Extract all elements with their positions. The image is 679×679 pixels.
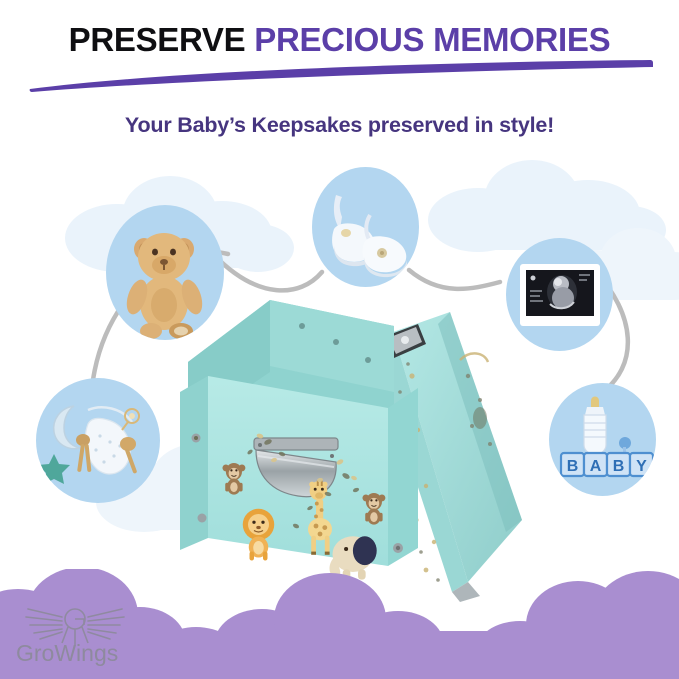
page-subtitle: Your Baby’s Keepsakes preserved in style… [0,113,679,138]
page-title-part1: PRESERVE [69,21,246,58]
title-underline-swoosh [26,56,654,92]
page-title-part2: PRECIOUS MEMORIES [254,21,610,58]
header: PRESERVE PRECIOUS MEMORIES Your Baby’s K… [0,0,679,679]
promo-graphic: B A B Y [0,0,679,679]
page-title: PRESERVE PRECIOUS MEMORIES [0,23,679,56]
